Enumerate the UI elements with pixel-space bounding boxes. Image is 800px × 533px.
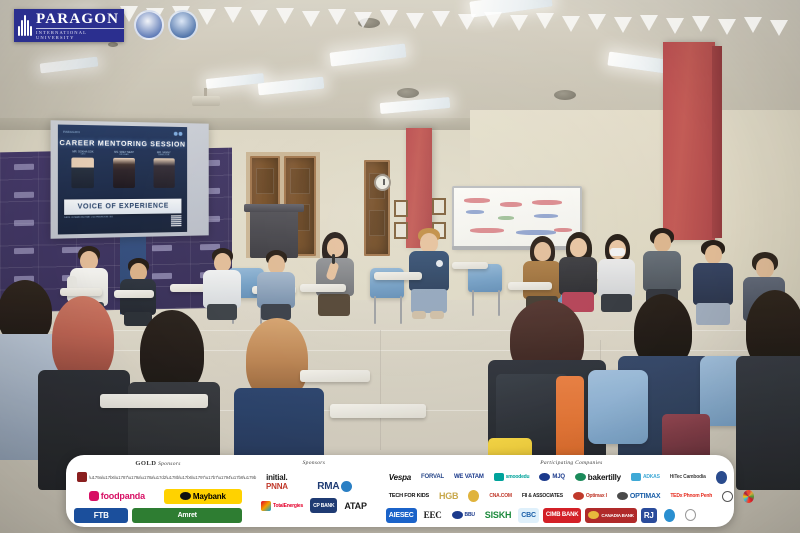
gold-label: GOLD <box>135 460 156 467</box>
optimaxl-logo[interactable]: Optimax I <box>570 489 610 504</box>
ceiling-speaker <box>554 90 576 100</box>
ceiling-speaker <box>397 88 419 98</box>
floor-tile-line <box>380 330 381 450</box>
adkas-logo-text: ADKAS <box>643 474 660 480</box>
ministry-logo[interactable]: \u179a\u17b6\u1787\u179a\u178a\u17d2\u17… <box>74 470 259 485</box>
sponsor-row: TotalEnergies CP BANK ATAP <box>258 497 370 514</box>
speaker-role: CEO <box>66 154 100 156</box>
speaker-role: DIRECTOR <box>148 155 180 157</box>
ceiling-vent <box>108 42 118 47</box>
wall-clock <box>374 174 391 191</box>
projection-screen: PARAGON CAREER MENTORING SESSION MR. SOK… <box>51 120 209 239</box>
wing-logo[interactable] <box>661 508 678 523</box>
wevatam-logo-text: WE VATAM <box>454 474 484 480</box>
cbc-logo[interactable]: CBC <box>518 508 539 523</box>
shirt-crest-icon <box>436 260 443 267</box>
forval-logo[interactable]: FORVAL <box>418 470 447 485</box>
sponsors-label: Sponsors <box>158 461 181 467</box>
eec-logo-text: EEC <box>424 510 442 520</box>
shoe <box>412 311 426 319</box>
head <box>570 238 587 257</box>
totalenergies-logo-text: TotalEnergies <box>273 503 303 509</box>
sponsor-group-heading: Participating Companies <box>386 459 757 468</box>
sponsor-row: foodpanda Maybank <box>74 488 242 505</box>
shoe <box>430 311 444 319</box>
aiesec-logo-text: AIESEC <box>389 512 414 519</box>
sponsor-group-participating: Participating Companies Vespa FORVAL WE … <box>386 459 757 524</box>
cimbbank-logo[interactable]: CIMB BANK <box>543 508 582 523</box>
totalenergies-logo[interactable]: TotalEnergies <box>258 498 306 513</box>
red-column-side <box>712 46 722 238</box>
canadia-logo[interactable]: CANADIA BANK <box>585 508 636 523</box>
poster-header-left: PARAGON <box>63 130 80 134</box>
ftb-logo[interactable]: FTB <box>74 508 128 523</box>
hitec-logo-text: HiTec Cambodia <box>670 474 706 480</box>
torso <box>203 270 241 308</box>
scarf <box>556 376 584 466</box>
rma-logo-text: RMA <box>317 481 339 492</box>
desk-surface <box>100 394 208 408</box>
amret-logo[interactable]: Amret <box>132 508 242 523</box>
bbu-logo[interactable]: BBU <box>449 508 478 523</box>
poster-footer: DATE: 20 MARCH\nTIME: 2:00 PM\nROOM: 301 <box>64 215 181 232</box>
fii-logo[interactable]: FII & ASSOCIATES <box>519 489 566 504</box>
canadia-logo-text: CANADIA BANK <box>601 513 633 518</box>
siskh-logo-text: SISKH <box>485 510 512 520</box>
ministry-logo-text: \u179a\u17b6\u1787\u179a\u178a\u17d2\u17… <box>89 475 256 480</box>
face-mask-icon <box>610 248 625 256</box>
bakertilly-logo-text: bakertilly <box>588 473 621 482</box>
head <box>705 245 722 264</box>
forval-logo-text: FORVAL <box>421 474 444 480</box>
poster-speakers: MR. SOKHA SOK CEO MS. SREY NEAT HR LEAD … <box>62 150 183 203</box>
ceiling-speaker <box>358 18 380 28</box>
participant <box>254 250 298 318</box>
projector <box>192 96 220 106</box>
maybank-logo[interactable]: Maybank <box>164 489 242 504</box>
techforkids-logo-text: TECH FOR KIDS <box>389 493 429 499</box>
sponsor-group-gold: GOLD Sponsors \u179a\u17b6\u1787\u179a\u… <box>74 459 242 524</box>
head <box>756 258 774 278</box>
leg <box>318 294 350 316</box>
cpbank-logo-text: CP BANK <box>313 503 334 509</box>
sponsor-row: Vespa FORVAL WE VATAM smoodedu MJQ baker… <box>386 469 757 486</box>
maple-logo[interactable] <box>713 470 730 485</box>
torso <box>598 259 635 297</box>
presentation-poster: PARAGON CAREER MENTORING SESSION MR. SOK… <box>58 125 187 235</box>
sponsor-row: AIESEC EEC BBU SISKH CBC CIMB BANK CANAD… <box>386 507 757 524</box>
sponsor-row: \u179a\u17b6\u1787\u179a\u178a\u17d2\u17… <box>74 469 242 486</box>
techforkids-logo[interactable]: TECH FOR KIDS <box>386 489 432 504</box>
sponsor-row: FTB Amret <box>74 507 242 524</box>
optimaxl-logo-text: Optimax I <box>586 493 607 499</box>
speaker-photo <box>153 159 174 189</box>
pnna-logo-text: PNNA <box>266 482 288 491</box>
leg <box>411 289 447 313</box>
sponsor-row: PNNA RMA <box>258 478 370 495</box>
torso <box>409 251 449 291</box>
torso <box>643 251 681 291</box>
foodpanda-logo-text: foodpanda <box>101 491 145 501</box>
desk-surface <box>330 404 426 418</box>
desk-surface <box>374 272 422 280</box>
desk-surface <box>300 284 346 292</box>
speaker-role: HR LEAD <box>108 154 141 156</box>
rj-logo-text: RJ <box>644 511 654 520</box>
mjq-logo-text: MJQ <box>552 474 564 480</box>
podium-top <box>244 204 304 212</box>
speaker-photo <box>113 158 135 188</box>
participant <box>200 248 244 318</box>
pnna-logo[interactable]: PNNA <box>258 479 296 494</box>
cpbank-logo[interactable]: CP BANK <box>310 498 337 513</box>
bbu-logo-text: BBU <box>465 512 475 518</box>
sponsor-group-heading: Sponsors <box>258 459 370 468</box>
sponsor-row: TECH FOR KIDS HGB CNA.COM FII & ASSOCIAT… <box>386 488 757 505</box>
atap-logo[interactable]: ATAP <box>341 498 369 513</box>
sponsor-group-sponsors: Sponsors PNNA RMA TotalEnergies <box>258 459 370 524</box>
mazda-logo[interactable] <box>719 489 736 504</box>
optimax-logo[interactable]: OPTIMAX <box>614 489 664 504</box>
participating-label: Participating Companies <box>540 460 602 466</box>
poster-speaker: MS. SREY NEAT HR LEAD <box>108 151 141 203</box>
head <box>327 238 344 257</box>
torso <box>257 272 295 308</box>
sponsor-logo-panel: GOLD Sponsors \u179a\u17b6\u1787\u179a\u… <box>66 455 734 527</box>
red-column <box>663 42 715 240</box>
poster-speaker: MR. VANNY DIRECTOR <box>148 151 180 203</box>
ftb-logo-text: FTB <box>94 511 109 520</box>
cbc-logo-text: CBC <box>521 512 536 519</box>
hitec-cambodia-logo[interactable]: HiTec Cambodia <box>667 470 709 485</box>
mjq-logo[interactable]: MJQ <box>536 470 567 485</box>
hgb-logo[interactable]: HGB <box>436 489 461 504</box>
rj-logo[interactable]: RJ <box>641 508 657 523</box>
chair-leg <box>472 290 474 316</box>
chair <box>588 370 648 444</box>
desk-surface <box>452 262 488 269</box>
foodpanda-logo[interactable]: foodpanda <box>74 489 160 504</box>
microphone-icon <box>332 254 335 264</box>
rma-logo[interactable]: RMA <box>300 479 370 494</box>
torso <box>559 257 597 295</box>
smoodedu-logo[interactable]: smoodedu <box>491 470 533 485</box>
adkas-logo[interactable]: ADKAS <box>628 470 663 485</box>
bakertilly-logo[interactable]: bakertilly <box>572 470 624 485</box>
vespa-logo-text: Vespa <box>389 473 411 482</box>
sponsor-group-heading: GOLD Sponsors <box>74 459 242 468</box>
aiesec-logo[interactable]: AIESEC <box>386 508 417 523</box>
chair-leg <box>400 296 402 324</box>
wevatam-logo[interactable]: WE VATAM <box>451 470 487 485</box>
speaker-with-microphone <box>312 232 360 318</box>
maybank-logo-text: Maybank <box>193 492 226 501</box>
fii-logo-text: FII & ASSOCIATES <box>522 493 563 499</box>
poster-banner-text: VOICE OF EXPERIENCE <box>78 203 169 211</box>
wall-picture-frame <box>394 200 408 217</box>
eec-logo[interactable]: EEC <box>421 508 445 523</box>
cnacom-logo[interactable]: CNA.COM <box>486 489 515 504</box>
optimax-logo-text: OPTIMAX <box>630 493 661 500</box>
cimbbank-logo-text: CIMB BANK <box>546 512 579 518</box>
head <box>420 233 438 253</box>
speaker-photo <box>72 158 95 189</box>
atap-logo-text: ATAP <box>344 501 366 511</box>
qr-code-icon <box>171 215 182 226</box>
tedx-logo-text: TEDx Phnom Penh <box>670 493 712 499</box>
poster-footer-left: DATE: 20 MARCH\nTIME: 2:00 PM\nROOM: 301 <box>64 216 113 232</box>
desk-surface <box>508 282 552 290</box>
sponsors-label: Sponsors <box>303 460 326 466</box>
cnacom-logo-text: CNA.COM <box>489 493 512 499</box>
tedx-logo[interactable]: TEDx Phnom Penh <box>667 489 715 504</box>
smoodedu-logo-text: smoodedu <box>506 474 530 480</box>
wall-picture-frame <box>432 198 446 215</box>
amret-logo-text: Amret <box>178 512 197 519</box>
poster-speaker: MR. SOKHA SOK CEO <box>66 150 100 203</box>
sdg-logo[interactable] <box>740 489 757 504</box>
abc-logo[interactable] <box>682 508 699 523</box>
poster-header-right <box>173 131 183 136</box>
vespa-logo[interactable]: Vespa <box>386 470 414 485</box>
poster-title: CAREER MENTORING SESSION <box>58 138 187 149</box>
hgb-logo-text: HGB <box>439 491 458 501</box>
poster-banner: VOICE OF EXPERIENCE <box>64 199 181 215</box>
chair-leg <box>374 296 376 324</box>
bcca-logo[interactable] <box>465 489 482 504</box>
desk-surface <box>300 370 370 382</box>
siskh-logo[interactable]: SISKH <box>482 508 515 523</box>
head <box>654 233 671 252</box>
head <box>534 242 551 261</box>
screenshot-root: PARAGON CAREER MENTORING SESSION MR. SOK… <box>0 0 800 533</box>
